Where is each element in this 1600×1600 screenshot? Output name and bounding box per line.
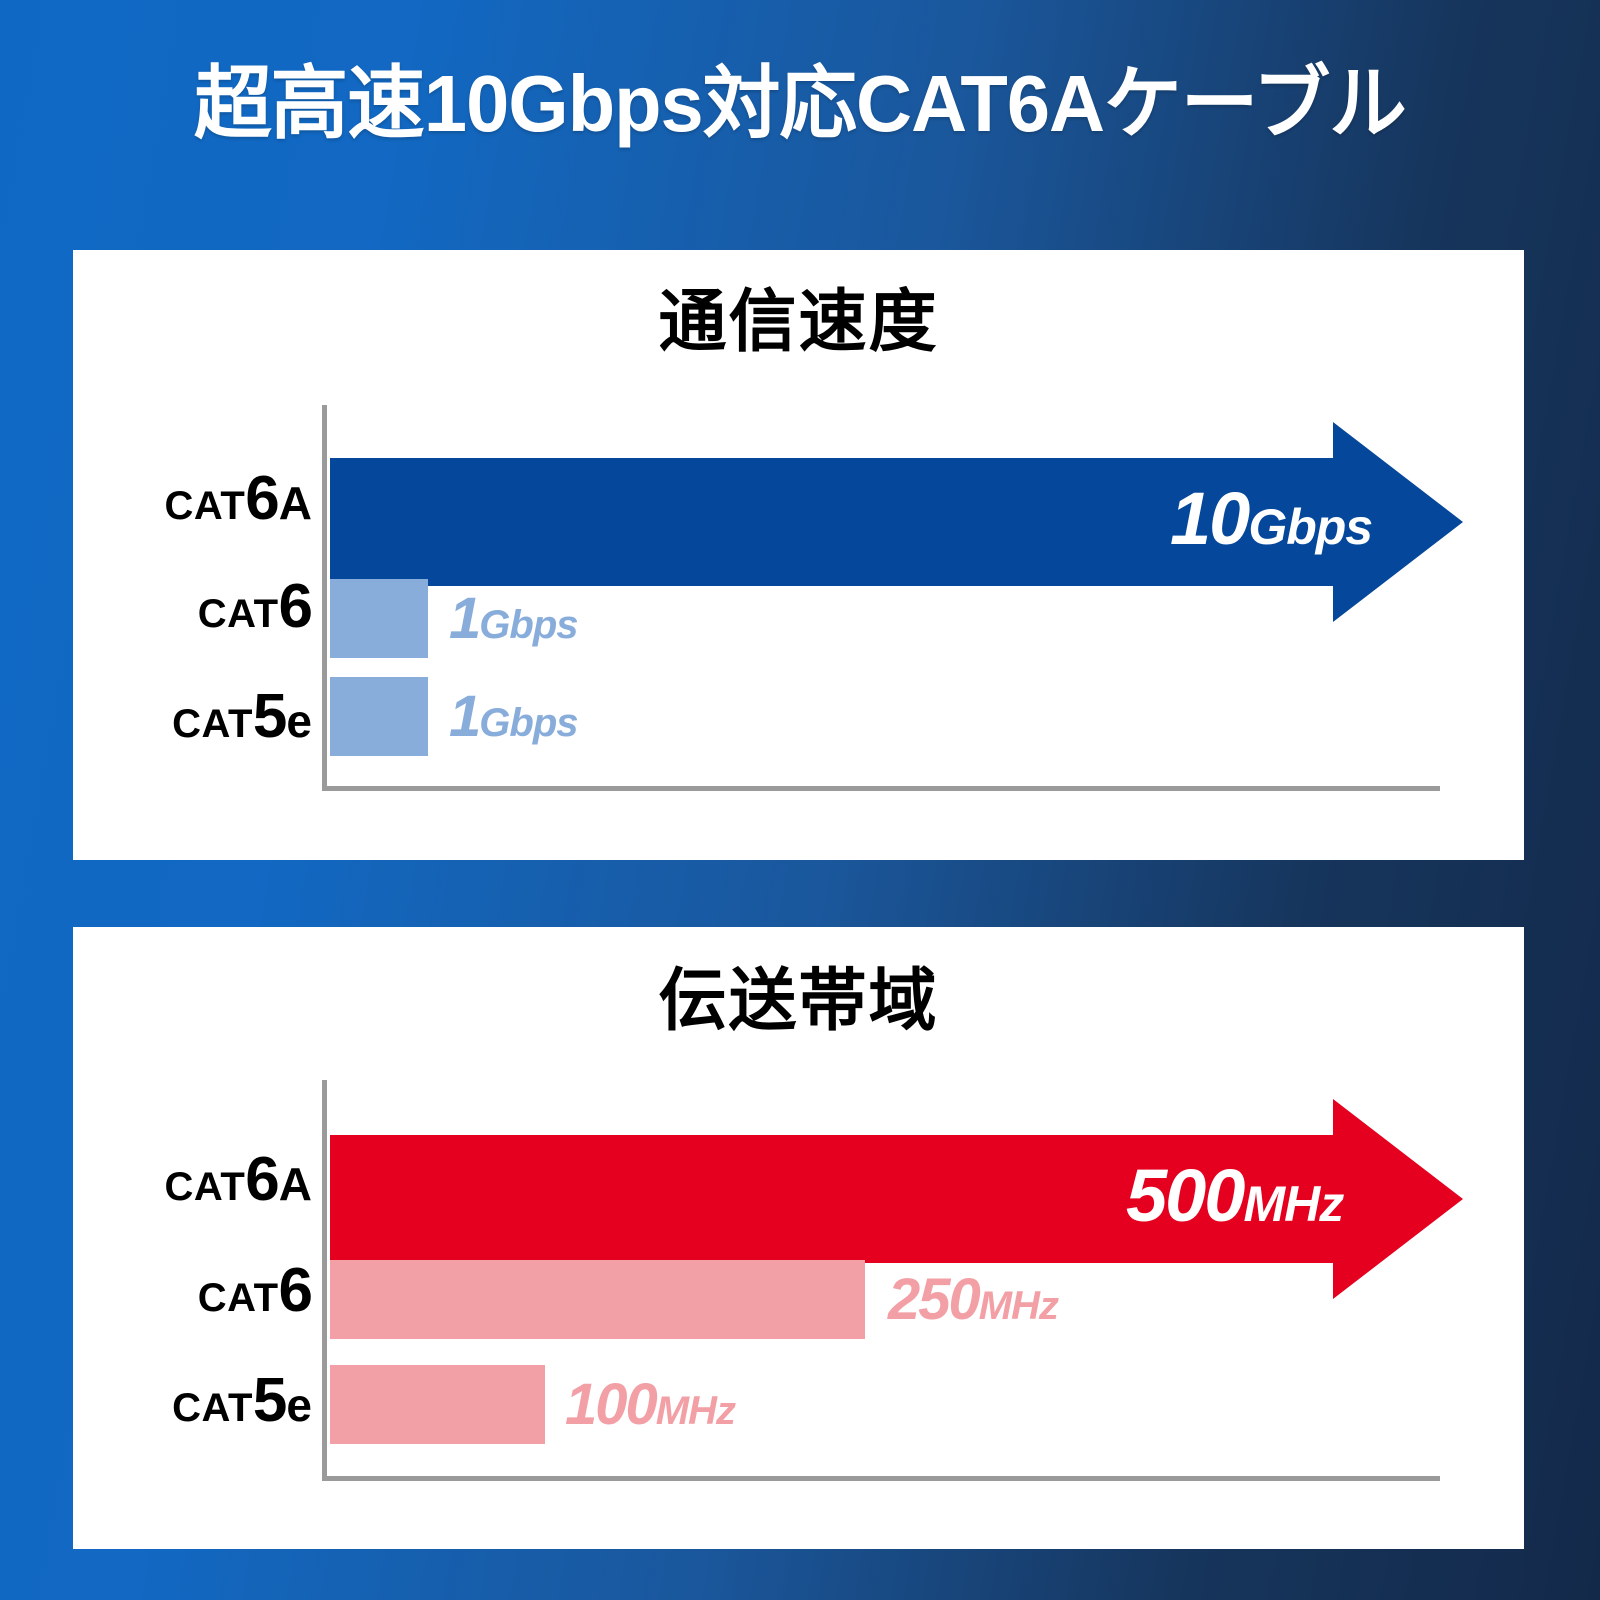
row-label-cat6: CAT6 [198, 576, 312, 638]
value-number: 1 [449, 586, 479, 651]
row-label-cat-word: CAT [172, 1386, 253, 1430]
bar-cat6-bandwidth [330, 1260, 865, 1339]
x-axis-line [322, 786, 1440, 791]
value-label-cat6a-bandwidth: 500MHz [1126, 1159, 1343, 1233]
value-label-cat6-speed: 1Gbps [449, 590, 578, 648]
panel-communication-speed: 通信速度 CAT6A 10Gbps CAT6 1G [73, 250, 1524, 860]
panel-transmission-bandwidth: 伝送帯域 CAT6A 500MHz CAT6 25 [73, 927, 1524, 1549]
value-label-cat6a-speed: 10Gbps [1170, 482, 1372, 556]
row-label-cat-number: 6 [279, 1256, 312, 1325]
value-unit: MHz [656, 1389, 735, 1433]
bar-cat5e-bandwidth [330, 1365, 545, 1444]
bar-cat6-speed [330, 579, 428, 658]
row-label-cat-suffix: e [286, 695, 312, 747]
value-label-cat6-bandwidth: 250MHz [888, 1271, 1058, 1329]
value-label-cat5e-bandwidth: 100MHz [565, 1376, 735, 1434]
row-label-cat6a: CAT6A [165, 468, 312, 530]
value-unit: Gbps [479, 603, 577, 647]
page-title: 超高速10Gbps対応CAT6Aケーブル [24, 62, 1576, 146]
row-label-cat-word: CAT [198, 1276, 279, 1320]
value-unit: Gbps [1248, 499, 1372, 555]
row-label-cat6: CAT6 [198, 1260, 312, 1322]
value-number: 500 [1126, 1154, 1243, 1237]
row-label-cat5e: CAT5e [172, 686, 312, 748]
bar-cat5e-speed [330, 677, 428, 756]
chart-speed: CAT6A 10Gbps CAT6 1Gbps CAT5e [73, 250, 1524, 860]
row-label-cat-word: CAT [172, 702, 253, 746]
row-label-cat6a: CAT6A [165, 1149, 312, 1211]
row-label-cat-suffix: A [279, 1158, 312, 1210]
row-label-cat5e: CAT5e [172, 1370, 312, 1432]
row-label-cat-number: 6 [245, 1145, 278, 1214]
infographic-canvas: 超高速10Gbps対応CAT6Aケーブル 通信速度 CAT6A 10Gbps C… [0, 0, 1600, 1600]
x-axis-line [322, 1476, 1440, 1481]
row-label-cat-number: 5 [253, 1366, 286, 1435]
value-unit: MHz [979, 1284, 1058, 1328]
row-label-cat-number: 6 [279, 572, 312, 641]
value-unit: MHz [1243, 1176, 1343, 1232]
value-number: 10 [1170, 477, 1248, 560]
y-axis-line [322, 405, 327, 790]
row-label-cat-suffix: A [279, 477, 312, 529]
row-label-cat-number: 5 [253, 682, 286, 751]
value-number: 250 [888, 1267, 979, 1332]
value-number: 100 [565, 1372, 656, 1437]
row-label-cat-word: CAT [165, 1165, 246, 1209]
y-axis-line [322, 1080, 327, 1480]
chart-bandwidth: CAT6A 500MHz CAT6 250MHz CAT5e [73, 927, 1524, 1549]
value-number: 1 [449, 684, 479, 749]
row-label-cat-number: 6 [245, 464, 278, 533]
row-label-cat-word: CAT [165, 484, 246, 528]
value-unit: Gbps [479, 701, 577, 745]
value-label-cat5e-speed: 1Gbps [449, 688, 578, 746]
row-label-cat-word: CAT [198, 592, 279, 636]
row-label-cat-suffix: e [286, 1379, 312, 1431]
